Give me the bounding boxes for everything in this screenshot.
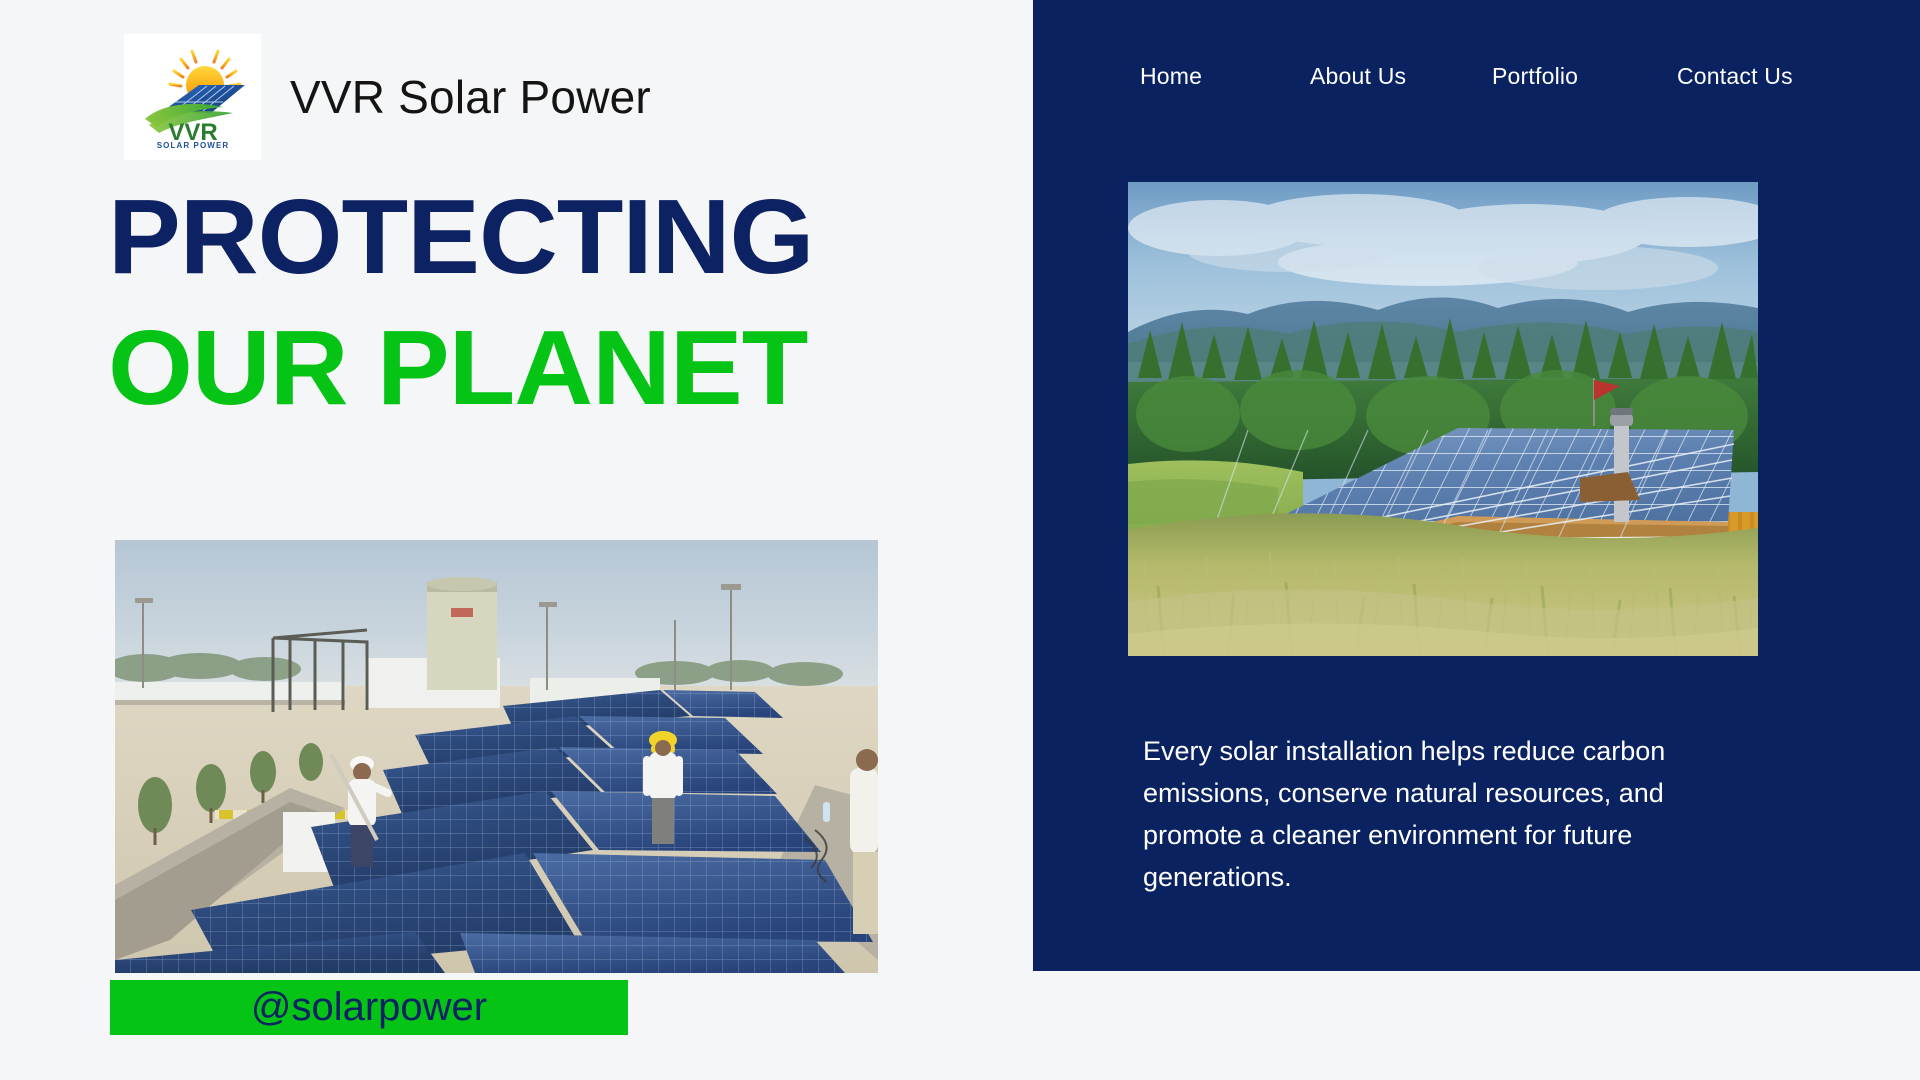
worker-right-edge (850, 749, 878, 934)
brand-name: VVR Solar Power (290, 70, 651, 124)
photo-rooftop-solar-installation (115, 540, 878, 973)
hero-body-text: Every solar installation helps reduce ca… (1143, 731, 1723, 898)
nav-item-home[interactable]: Home (1140, 63, 1202, 90)
headline-line-2: OUR PLANET (108, 317, 973, 420)
main-navigation: Home About Us Portfolio Contact Us (1033, 56, 1920, 96)
logo-tagline: SOLAR POWER (156, 141, 229, 149)
photo-farmhouse-solar-roof (1128, 182, 1758, 656)
hero-headline: PROTECTING OUR PLANET (108, 186, 948, 420)
nav-item-portfolio[interactable]: Portfolio (1492, 63, 1578, 90)
social-handle-badge[interactable]: @solarpower (110, 980, 628, 1035)
headline-line-1: PROTECTING (108, 186, 973, 289)
logo-tile: VVR SOLAR POWER (124, 34, 261, 160)
vvr-solar-logo-icon: VVR SOLAR POWER (137, 45, 249, 149)
nav-item-about-us[interactable]: About Us (1310, 63, 1406, 90)
nav-item-contact-us[interactable]: Contact Us (1677, 63, 1793, 90)
poster-canvas: Home About Us Portfolio Contact Us (0, 0, 1920, 1080)
social-handle-label: @solarpower (251, 985, 487, 1030)
brand-lockup[interactable]: VVR SOLAR POWER VVR Solar Power (124, 34, 651, 160)
